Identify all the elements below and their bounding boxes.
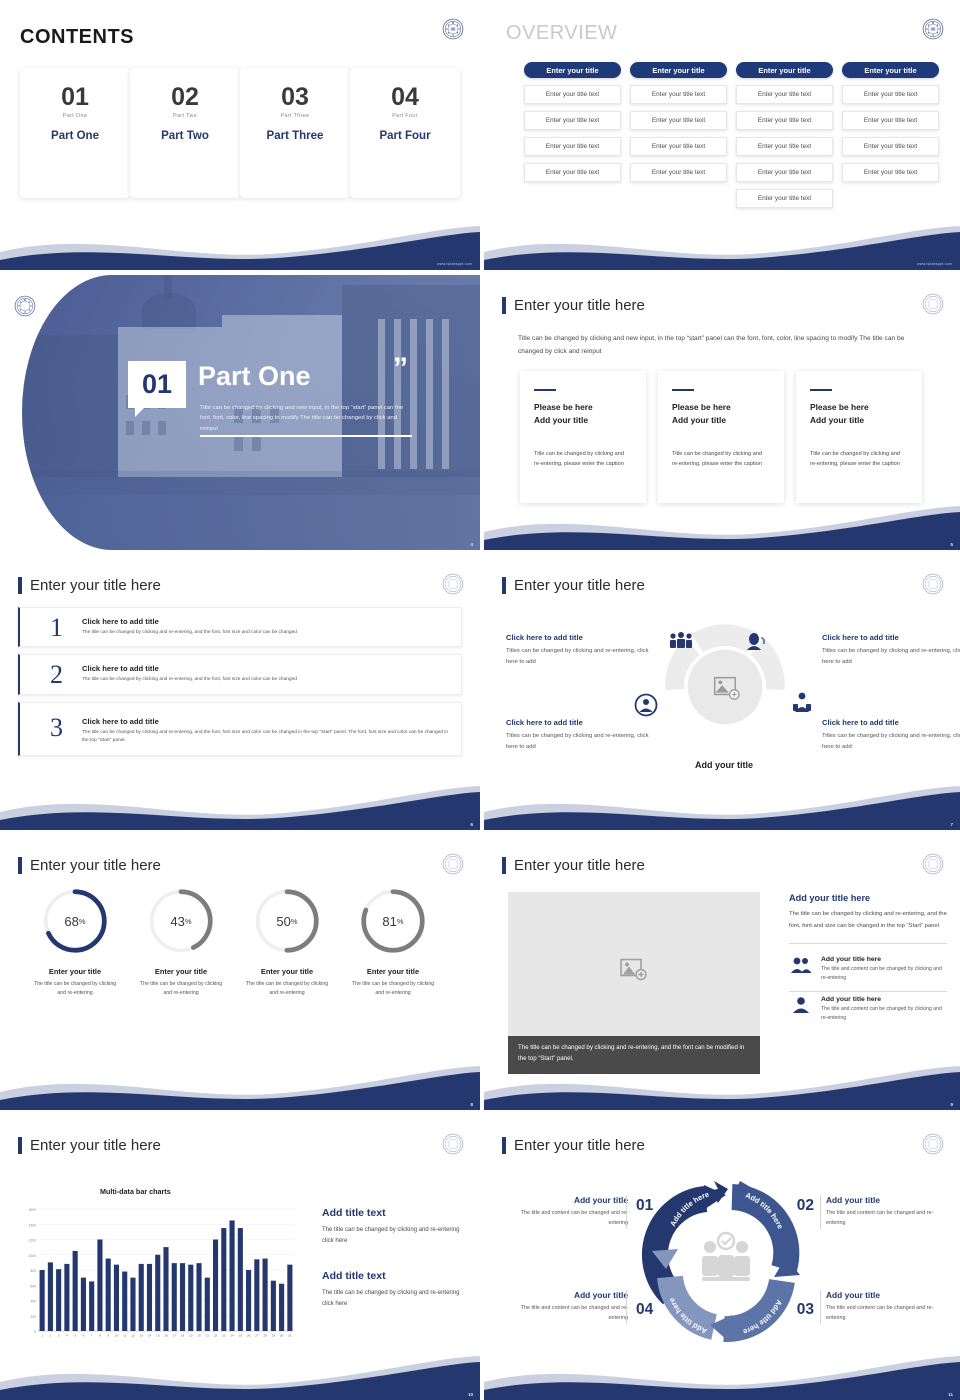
- row-title: Click here to add title: [82, 717, 449, 726]
- ring-value: 43%: [147, 887, 215, 955]
- ring-value: 50%: [253, 887, 321, 955]
- title-text: Enter your title here: [514, 577, 645, 594]
- card-accent-dash: [810, 389, 832, 391]
- slide-image-and-list[interactable]: Enter your title here The title can be c…: [480, 835, 960, 1110]
- svg-text:3: 3: [58, 1334, 60, 1338]
- row-number: 2: [50, 660, 63, 690]
- svg-text:23: 23: [222, 1334, 226, 1338]
- cycle-label-04[interactable]: Add your title The title and content can…: [510, 1290, 628, 1323]
- card-part-label: Part Three: [240, 130, 350, 142]
- cycle-label-03[interactable]: Add your title The title and content can…: [826, 1290, 944, 1323]
- wave-footer: [0, 784, 480, 830]
- slide-percentage-rings[interactable]: Enter your title here 68% Enter your tit…: [0, 835, 480, 1110]
- footer-url: www.islidesppt.com: [437, 262, 472, 266]
- wave-footer: [0, 1064, 480, 1110]
- item-desc: The title and content can be changed by …: [821, 1005, 947, 1023]
- cycle-label-01[interactable]: Add your title The title and content can…: [510, 1195, 628, 1228]
- overview-column: Enter your title Enter your title text E…: [630, 62, 727, 208]
- card-number: 03: [240, 85, 350, 110]
- label-body: The title and content can be changed and…: [510, 1304, 628, 1323]
- card-title-line2: Add your title: [534, 414, 632, 427]
- card-accent-dash: [672, 389, 694, 391]
- title-accent-bar: [502, 1137, 506, 1154]
- ring-desc: The title can be changed by clicking and…: [234, 980, 340, 999]
- label-heading: Add your title: [826, 1195, 944, 1205]
- overview-item[interactable]: Enter your title text: [842, 163, 939, 182]
- label-body: Titles can be changed by clicking and re…: [506, 731, 656, 753]
- svg-text:1000: 1000: [28, 1254, 36, 1258]
- ring-value: 81%: [359, 887, 427, 955]
- person-team-icon: [790, 691, 814, 718]
- label-body: Titles can be changed by clicking and re…: [822, 646, 960, 668]
- item-title: Add your title here: [821, 996, 947, 1003]
- card-title-line2: Add your title: [672, 414, 770, 427]
- svg-text:28: 28: [263, 1334, 267, 1338]
- side-block: Add title text The title can be changed …: [322, 1270, 468, 1311]
- label-heading: Add your title: [826, 1290, 944, 1300]
- university-seal-icon: [442, 1133, 464, 1155]
- page-title: Enter your title here: [18, 1137, 161, 1154]
- overview-item[interactable]: Enter your title text: [842, 85, 939, 104]
- page-number: 7: [950, 822, 953, 827]
- card-subtitle: Part Two: [130, 113, 240, 119]
- slide-cycle-diagram[interactable]: Enter your title here Add your title The…: [480, 1115, 960, 1400]
- page-title: Enter your title here: [502, 577, 645, 594]
- block-body: The title can be changed by clicking and…: [322, 1225, 468, 1248]
- title-accent-bar: [18, 577, 22, 594]
- card-accent-dash: [534, 389, 556, 391]
- slide-section-divider[interactable]: 01 Part One ” Title can be changed by cl…: [0, 275, 480, 550]
- slide-radial-diagram[interactable]: Enter your title here Click here to add …: [480, 555, 960, 830]
- contents-card[interactable]: 02 Part Two Part Two: [130, 68, 240, 198]
- title-text: Enter your title here: [30, 1137, 161, 1154]
- ring-unit: %: [79, 917, 86, 926]
- feature-card[interactable]: Please be here Add your title Title can …: [658, 371, 784, 503]
- svg-text:15: 15: [156, 1334, 160, 1338]
- overview-item[interactable]: Enter your title text: [524, 137, 621, 156]
- column-title-button[interactable]: Enter your title: [736, 62, 833, 78]
- overview-item[interactable]: Enter your title text: [524, 163, 621, 182]
- overview-item[interactable]: Enter your title text: [842, 111, 939, 130]
- label-body: The title and content can be changed and…: [826, 1209, 944, 1228]
- page-number: 10: [468, 1392, 473, 1397]
- wave-footer: [484, 784, 960, 830]
- university-seal-icon: [922, 573, 944, 595]
- overview-item[interactable]: Enter your title text: [630, 163, 727, 182]
- row-title: Click here to add title: [82, 664, 449, 673]
- ring-desc: The title can be changed by clicking and…: [340, 980, 446, 999]
- page-title: Enter your title here: [502, 857, 645, 874]
- contents-card-list: 01 Part One Part One 02 Part Two Part Tw…: [20, 68, 460, 198]
- wave-footer: [484, 1354, 960, 1400]
- group-people-icon: [668, 631, 694, 654]
- ring-item[interactable]: 68% Enter your title The title can be ch…: [22, 887, 128, 999]
- svg-text:30: 30: [280, 1334, 284, 1338]
- panel-body: The title can be changed by clicking and…: [789, 909, 947, 932]
- svg-text:0: 0: [34, 1330, 36, 1334]
- wave-footer: [0, 1354, 480, 1400]
- svg-text:1: 1: [41, 1334, 43, 1338]
- overview-item[interactable]: Enter your title text: [842, 137, 939, 156]
- overview-item[interactable]: Enter your title text: [524, 111, 621, 130]
- overview-item[interactable]: Enter your title text: [630, 137, 727, 156]
- ring-title: Enter your title: [128, 967, 234, 976]
- ring-desc: The title can be changed by clicking and…: [22, 980, 128, 999]
- slide-deck: CONTENTS 01 Part One Part One 02 Part Tw…: [0, 0, 960, 1400]
- svg-text:800: 800: [30, 1269, 36, 1273]
- label-divider: [626, 1195, 627, 1229]
- card-list: Please be here Add your title Title can …: [520, 371, 922, 503]
- chart-title: Multi-data bar charts: [100, 1187, 171, 1196]
- svg-text:1600: 1600: [28, 1208, 36, 1212]
- svg-text:11: 11: [123, 1334, 126, 1338]
- radial-label-bottom-right[interactable]: Click here to add title Titles can be ch…: [822, 718, 960, 753]
- panel-heading: Add your title here: [789, 893, 947, 903]
- university-seal-icon: [922, 18, 944, 40]
- right-panel: Add your title here The title can be cha…: [789, 893, 947, 1027]
- university-seal-icon: [442, 573, 464, 595]
- svg-text:29: 29: [272, 1334, 276, 1338]
- card-title: Please be here Add your title: [534, 401, 632, 427]
- svg-text:21: 21: [206, 1334, 210, 1338]
- overview-item[interactable]: Enter your title text: [630, 111, 727, 130]
- ring-number: 68: [64, 914, 78, 929]
- wave-footer: [484, 504, 960, 550]
- card-part-label: Part Four: [350, 130, 460, 142]
- svg-text:25: 25: [239, 1334, 243, 1338]
- card-number: 02: [130, 85, 240, 110]
- slide-bar-chart[interactable]: Enter your title here Multi-data bar cha…: [0, 1115, 480, 1400]
- ring-item[interactable]: 50% Enter your title The title can be ch…: [234, 887, 340, 999]
- svg-text:1200: 1200: [28, 1239, 36, 1243]
- chart-side-panel: Add title text The title can be changed …: [322, 1207, 468, 1311]
- title-text: Enter your title here: [514, 857, 645, 874]
- ring-title: Enter your title: [340, 967, 446, 976]
- svg-text:200: 200: [30, 1315, 36, 1319]
- card-body: Title can be changed by clicking and re-…: [672, 449, 770, 470]
- card-title-line1: Please be here: [810, 401, 908, 414]
- block-heading: Add title text: [322, 1207, 468, 1219]
- overview-grid: Enter your title Enter your title text E…: [524, 62, 939, 208]
- label-heading: Add your title: [510, 1195, 628, 1205]
- university-seal-icon: [922, 1133, 944, 1155]
- svg-text:9: 9: [107, 1334, 109, 1338]
- ring-number: 50: [276, 914, 290, 929]
- svg-text:2: 2: [50, 1334, 52, 1338]
- row-title: Click here to add title: [82, 617, 449, 626]
- page-number: 9: [950, 1102, 953, 1107]
- footer-url: www.islidesppt.com: [917, 262, 952, 266]
- section-number: 01: [142, 369, 172, 400]
- progress-ring: 43%: [147, 887, 215, 955]
- row-description: The title can be changed by clicking and…: [82, 729, 449, 746]
- radial-label-bottom-left[interactable]: Click here to add title Titles can be ch…: [506, 718, 656, 753]
- wave-footer: [0, 224, 480, 270]
- ring-item[interactable]: 81% Enter your title The title can be ch…: [340, 887, 446, 999]
- block-heading: Add title text: [322, 1270, 468, 1282]
- person-headset-icon: [744, 629, 768, 656]
- overview-column: Enter your title Enter your title text E…: [842, 62, 939, 208]
- overview-item[interactable]: Enter your title text: [524, 85, 621, 104]
- single-person-icon: [789, 996, 813, 1019]
- university-seal-icon: [14, 295, 36, 317]
- column-title-button[interactable]: Enter your title: [842, 62, 939, 78]
- ring-item[interactable]: 43% Enter your title The title can be ch…: [128, 887, 234, 999]
- divider-rule: [200, 435, 412, 437]
- overview-item[interactable]: Enter your title text: [736, 163, 833, 182]
- svg-text:12: 12: [131, 1334, 135, 1338]
- row-number: 3: [50, 713, 63, 743]
- image-caption: The title can be changed by clicking and…: [508, 1036, 760, 1074]
- svg-text:14: 14: [148, 1334, 152, 1338]
- page-title: Enter your title here: [502, 1137, 645, 1154]
- card-part-label: Part Two: [130, 130, 240, 142]
- svg-text:19: 19: [189, 1334, 193, 1338]
- section-number-badge: 01: [128, 361, 186, 408]
- contents-card[interactable]: 01 Part One Part One: [20, 68, 130, 198]
- svg-text:17: 17: [173, 1334, 177, 1338]
- title-text: Enter your title here: [30, 577, 161, 594]
- ring-list: 68% Enter your title The title can be ch…: [22, 887, 446, 999]
- list-item[interactable]: 2 Click here to add title The title can …: [18, 654, 462, 694]
- cycle-label-02[interactable]: Add your title The title and content can…: [826, 1195, 944, 1228]
- title-text: Enter your title here: [514, 1137, 645, 1154]
- card-title-line1: Please be here: [672, 401, 770, 414]
- row-description: The title can be changed by clicking and…: [82, 676, 449, 684]
- contents-card[interactable]: 03 Part Three Part Three: [240, 68, 350, 198]
- item-title: Add your title here: [821, 956, 947, 963]
- ring-number: 43: [170, 914, 184, 929]
- ring-unit: %: [185, 917, 192, 926]
- ring-title: Enter your title: [22, 967, 128, 976]
- progress-ring: 68%: [41, 887, 109, 955]
- card-body: Title can be changed by clicking and re-…: [810, 449, 908, 470]
- label-divider: [820, 1290, 821, 1324]
- page-number: 6: [470, 822, 473, 827]
- section-description: Title can be changed by clicking and new…: [200, 403, 410, 434]
- label-divider: [626, 1290, 627, 1324]
- svg-text:13: 13: [139, 1334, 143, 1338]
- page-title: Enter your title here: [18, 857, 161, 874]
- svg-text:5: 5: [74, 1334, 76, 1338]
- item-desc: The title and content can be changed by …: [821, 965, 947, 983]
- row-description: The title can be changed by clicking and…: [82, 629, 449, 637]
- row-number: 1: [50, 613, 63, 643]
- side-block: Add title text The title can be changed …: [322, 1207, 468, 1248]
- two-people-icon: [789, 956, 813, 979]
- title-text: Enter your title here: [30, 857, 161, 874]
- column-title-button[interactable]: Enter your title: [524, 62, 621, 78]
- ring-title: Enter your title: [234, 967, 340, 976]
- svg-text:400: 400: [30, 1300, 36, 1304]
- overview-item[interactable]: Enter your title text: [736, 111, 833, 130]
- ring-value: 68%: [41, 887, 109, 955]
- radial-label-top-right[interactable]: Click here to add title Titles can be ch…: [822, 633, 960, 668]
- feature-card[interactable]: Please be here Add your title Title can …: [796, 371, 922, 503]
- title-accent-bar: [502, 297, 506, 314]
- block-body: The title can be changed by clicking and…: [322, 1288, 468, 1311]
- card-title: Please be here Add your title: [810, 401, 908, 427]
- card-title-line2: Add your title: [810, 414, 908, 427]
- progress-ring: 81%: [359, 887, 427, 955]
- contents-card[interactable]: 04 Part Four Part Four: [350, 68, 460, 198]
- wave-footer: [484, 224, 960, 270]
- svg-text:4: 4: [66, 1334, 68, 1338]
- section-title: Part One: [198, 361, 311, 392]
- ring-unit: %: [291, 917, 298, 926]
- svg-text:16: 16: [164, 1334, 168, 1338]
- card-part-label: Part One: [20, 130, 130, 142]
- card-subtitle: Part Four: [350, 113, 460, 119]
- image-placeholder-icon: [620, 958, 648, 987]
- column-title-button[interactable]: Enter your title: [630, 62, 727, 78]
- university-seal-icon: [922, 853, 944, 875]
- svg-text:31: 31: [288, 1334, 292, 1338]
- radial-chart[interactable]: [642, 617, 808, 757]
- radial-label-top-left[interactable]: Click here to add title Titles can be ch…: [506, 633, 656, 668]
- page-number: 4: [470, 542, 473, 547]
- ring-desc: The title can be changed by clicking and…: [128, 980, 234, 999]
- slide-overview[interactable]: OVERVIEW Enter your title Enter your tit…: [480, 0, 960, 270]
- svg-text:6: 6: [83, 1334, 85, 1338]
- bar-chart[interactable]: 0200400600800100012001400160012345678910…: [16, 1203, 298, 1345]
- card-subtitle: Part Three: [240, 113, 350, 119]
- label-heading: Click here to add title: [822, 718, 960, 727]
- card-number: 01: [20, 85, 130, 110]
- title-text: Enter your title here: [514, 297, 645, 314]
- university-seal-icon: [442, 18, 464, 40]
- page-number: 5: [950, 542, 953, 547]
- label-heading: Add your title: [510, 1290, 628, 1300]
- svg-text:600: 600: [30, 1284, 36, 1288]
- page-number: 11: [948, 1392, 953, 1397]
- lead-paragraph: Title can be changed by clicking and new…: [518, 333, 924, 359]
- progress-ring: 50%: [253, 887, 321, 955]
- list-item[interactable]: 1 Click here to add title The title can …: [18, 607, 462, 647]
- overview-column: Enter your title Enter your title text E…: [736, 62, 833, 208]
- svg-text:7: 7: [91, 1334, 93, 1338]
- overview-item[interactable]: Enter your title text: [736, 189, 833, 208]
- page-title: OVERVIEW: [506, 22, 617, 45]
- label-divider: [820, 1195, 821, 1229]
- svg-text:20: 20: [197, 1334, 201, 1338]
- person-circle-icon: [634, 693, 658, 722]
- label-body: The title and content can be changed and…: [510, 1209, 628, 1228]
- feature-card[interactable]: Please be here Add your title Title can …: [520, 371, 646, 503]
- svg-text:26: 26: [247, 1334, 251, 1338]
- card-body: Title can be changed by clicking and re-…: [534, 449, 632, 470]
- svg-text:10: 10: [115, 1334, 119, 1338]
- label-body: Titles can be changed by clicking and re…: [822, 731, 960, 753]
- title-accent-bar: [502, 857, 506, 874]
- title-accent-bar: [18, 857, 22, 874]
- quote-mark-icon: ”: [393, 361, 408, 376]
- ring-unit: %: [397, 917, 404, 926]
- label-heading: Click here to add title: [506, 633, 656, 642]
- label-body: The title and content can be changed and…: [826, 1304, 944, 1323]
- card-number: 04: [350, 85, 460, 110]
- label-body: Titles can be changed by clicking and re…: [506, 646, 656, 668]
- ring-number: 81: [382, 914, 396, 929]
- svg-text:18: 18: [181, 1334, 185, 1338]
- svg-text:1400: 1400: [28, 1223, 36, 1227]
- page-title: Enter your title here: [502, 297, 645, 314]
- card-subtitle: Part One: [20, 113, 130, 119]
- svg-text:8: 8: [99, 1334, 101, 1338]
- label-heading: Click here to add title: [822, 633, 960, 642]
- page-number: 8: [470, 1102, 473, 1107]
- overview-item[interactable]: Enter your title text: [736, 85, 833, 104]
- svg-text:24: 24: [230, 1334, 234, 1338]
- university-seal-icon: [922, 293, 944, 315]
- slide-three-cards[interactable]: Enter your title here Title can be chang…: [480, 275, 960, 550]
- title-accent-bar: [502, 577, 506, 594]
- slide-contents[interactable]: CONTENTS 01 Part One Part One 02 Part Tw…: [0, 0, 480, 270]
- panel-divider: [789, 943, 947, 944]
- list-item[interactable]: Add your title here The title and conten…: [789, 991, 947, 1027]
- svg-text:27: 27: [255, 1334, 259, 1338]
- page-title: CONTENTS: [20, 26, 134, 49]
- svg-text:22: 22: [214, 1334, 218, 1338]
- card-title: Please be here Add your title: [672, 401, 770, 427]
- cycle-chart[interactable]: Add title here Add title here Add title …: [640, 1177, 812, 1349]
- page-title: Enter your title here: [18, 577, 161, 594]
- overview-item[interactable]: Enter your title text: [736, 137, 833, 156]
- card-title-line1: Please be here: [534, 401, 632, 414]
- university-seal-icon: [442, 853, 464, 875]
- overview-column: Enter your title Enter your title text E…: [524, 62, 621, 208]
- radial-caption: Add your title: [484, 760, 960, 770]
- list-item[interactable]: Add your title here The title and conten…: [789, 952, 947, 987]
- list-item[interactable]: 3 Click here to add title The title can …: [18, 702, 462, 756]
- title-accent-bar: [18, 1137, 22, 1154]
- numbered-row-list: 1 Click here to add title The title can …: [18, 607, 462, 763]
- overview-item[interactable]: Enter your title text: [630, 85, 727, 104]
- slide-numbered-list[interactable]: Enter your title here 1 Click here to ad…: [0, 555, 480, 830]
